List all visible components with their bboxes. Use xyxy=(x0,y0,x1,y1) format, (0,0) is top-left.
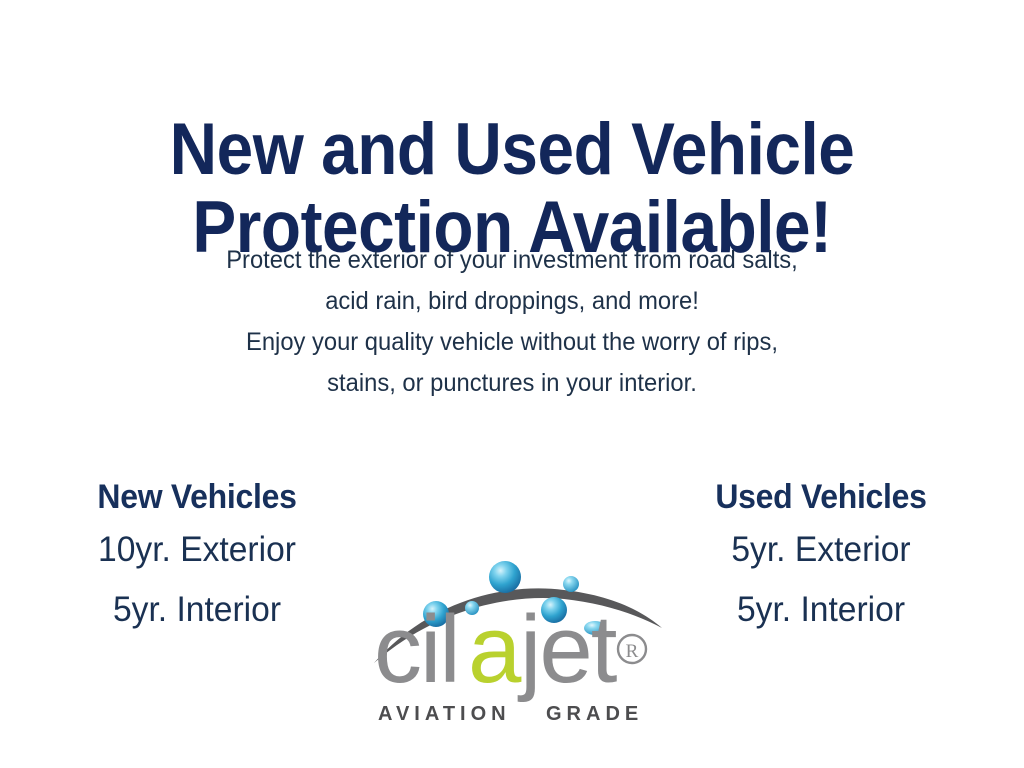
headline-line-1: New and Used Vehicle xyxy=(51,111,973,189)
logo-wordmark-jet: jet xyxy=(517,596,617,703)
used-vehicles-column: Used Vehicles 5yr. Exterior 5yr. Interio… xyxy=(656,474,986,640)
registered-trademark-icon: R xyxy=(618,635,646,663)
logo-tagline-aviation: AVIATION xyxy=(378,703,511,725)
new-vehicles-column: New Vehicles 10yr. Exterior 5yr. Interio… xyxy=(32,474,362,640)
subcopy-line-1: Protect the exterior of your investment … xyxy=(26,240,999,281)
new-vehicles-interior-term: 5yr. Interior xyxy=(39,580,356,640)
new-vehicles-title: New Vehicles xyxy=(42,474,352,520)
slide-canvas: New and Used Vehicle Protection Availabl… xyxy=(0,0,1024,768)
new-vehicles-exterior-term: 10yr. Exterior xyxy=(39,520,356,580)
used-vehicles-exterior-term: 5yr. Exterior xyxy=(663,520,980,580)
used-vehicles-title: Used Vehicles xyxy=(666,474,976,520)
cilajet-logo: cil a jet R AVIATION GRADE xyxy=(368,552,668,734)
bubble-small-upper-right xyxy=(563,576,579,592)
logo-wordmark-accent-a: a xyxy=(468,596,522,703)
logo-wordmark-cil: cil xyxy=(374,596,459,703)
used-vehicles-interior-term: 5yr. Interior xyxy=(663,580,980,640)
subcopy-line-2: acid rain, bird droppings, and more! xyxy=(26,281,999,322)
svg-text:R: R xyxy=(626,641,639,662)
subcopy-line-3: Enjoy your quality vehicle without the w… xyxy=(26,322,999,363)
bubble-large-center xyxy=(489,561,521,593)
subcopy-line-4: stains, or punctures in your interior. xyxy=(26,363,999,404)
subcopy-block: Protect the exterior of your investment … xyxy=(0,240,1024,404)
logo-tagline-grade: GRADE xyxy=(546,703,643,725)
